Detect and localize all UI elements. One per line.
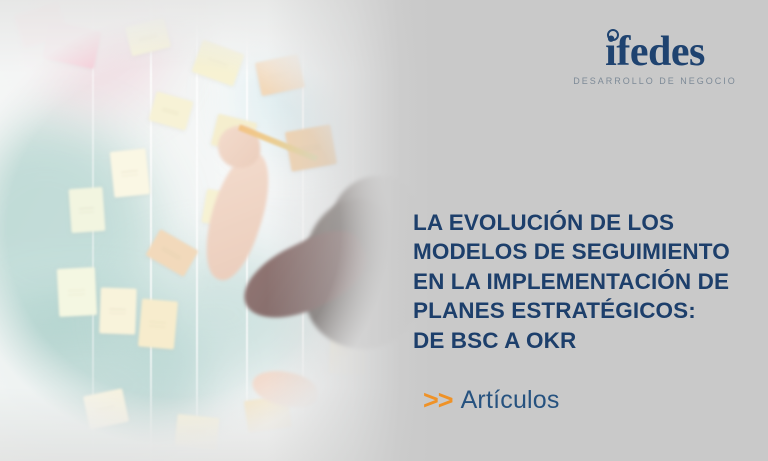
category-label: Artículos [461, 386, 560, 414]
chevron-right-icon: > [438, 387, 452, 414]
title-line-1: LA EVOLUCIÓN DE LOS [413, 208, 761, 237]
double-chevron-right-icon: > > [423, 387, 452, 414]
photo-right-fade [0, 0, 430, 461]
article-banner: ifedes DESARROLLO DE NEGOCIO LA EVOLUCIÓ… [0, 0, 768, 461]
logo-tagline: DESARROLLO DE NEGOCIO [570, 76, 740, 86]
chevron-right-icon: > [423, 387, 437, 414]
title-line-3: EN LA IMPLEMENTACIÓN DE [413, 267, 761, 296]
hero-photo [0, 0, 430, 461]
title-line-4: PLANES ESTRATÉGICOS: [413, 296, 761, 325]
logo-wordmark: ifedes [605, 30, 705, 74]
ifedes-logo[interactable]: ifedes DESARROLLO DE NEGOCIO [570, 30, 740, 86]
title-line-5: DE BSC A OKR [413, 326, 761, 355]
category-link[interactable]: > > Artículos [423, 386, 560, 414]
article-title: LA EVOLUCIÓN DE LOS MODELOS DE SEGUIMIEN… [413, 208, 761, 355]
logo-wordmark-text: ifedes [605, 29, 705, 75]
title-line-2: MODELOS DE SEGUIMIENTO [413, 237, 761, 266]
